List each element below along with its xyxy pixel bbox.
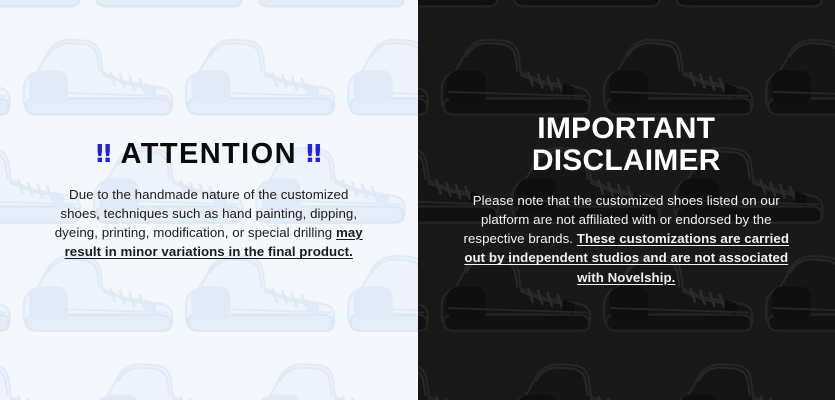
disclaimer-heading-line1: IMPORTANT [448,113,806,145]
double-exclamation-icon-left: ‼ [96,139,112,168]
disclaimer-panel: IMPORTANT DISCLAIMER Please note that th… [418,0,835,400]
double-exclamation-icon-right: ‼ [306,139,322,168]
attention-content: ‼ATTENTION‼ Due to the handmade nature o… [0,139,418,262]
attention-heading-text: ATTENTION [121,138,297,170]
attention-panel: ‼ATTENTION‼ Due to the handmade nature o… [0,0,418,400]
attention-heading: ‼ATTENTION‼ [34,139,384,169]
notice-banner: ‼ATTENTION‼ Due to the handmade nature o… [0,0,835,400]
attention-body-normal: Due to the handmade nature of the custom… [55,187,357,240]
disclaimer-heading-line2: DISCLAIMER [448,145,806,177]
disclaimer-heading: IMPORTANT DISCLAIMER [448,113,806,177]
disclaimer-body: Please note that the customized shoes li… [461,191,791,287]
attention-body: Due to the handmade nature of the custom… [53,185,365,262]
disclaimer-content: IMPORTANT DISCLAIMER Please note that th… [418,113,835,286]
